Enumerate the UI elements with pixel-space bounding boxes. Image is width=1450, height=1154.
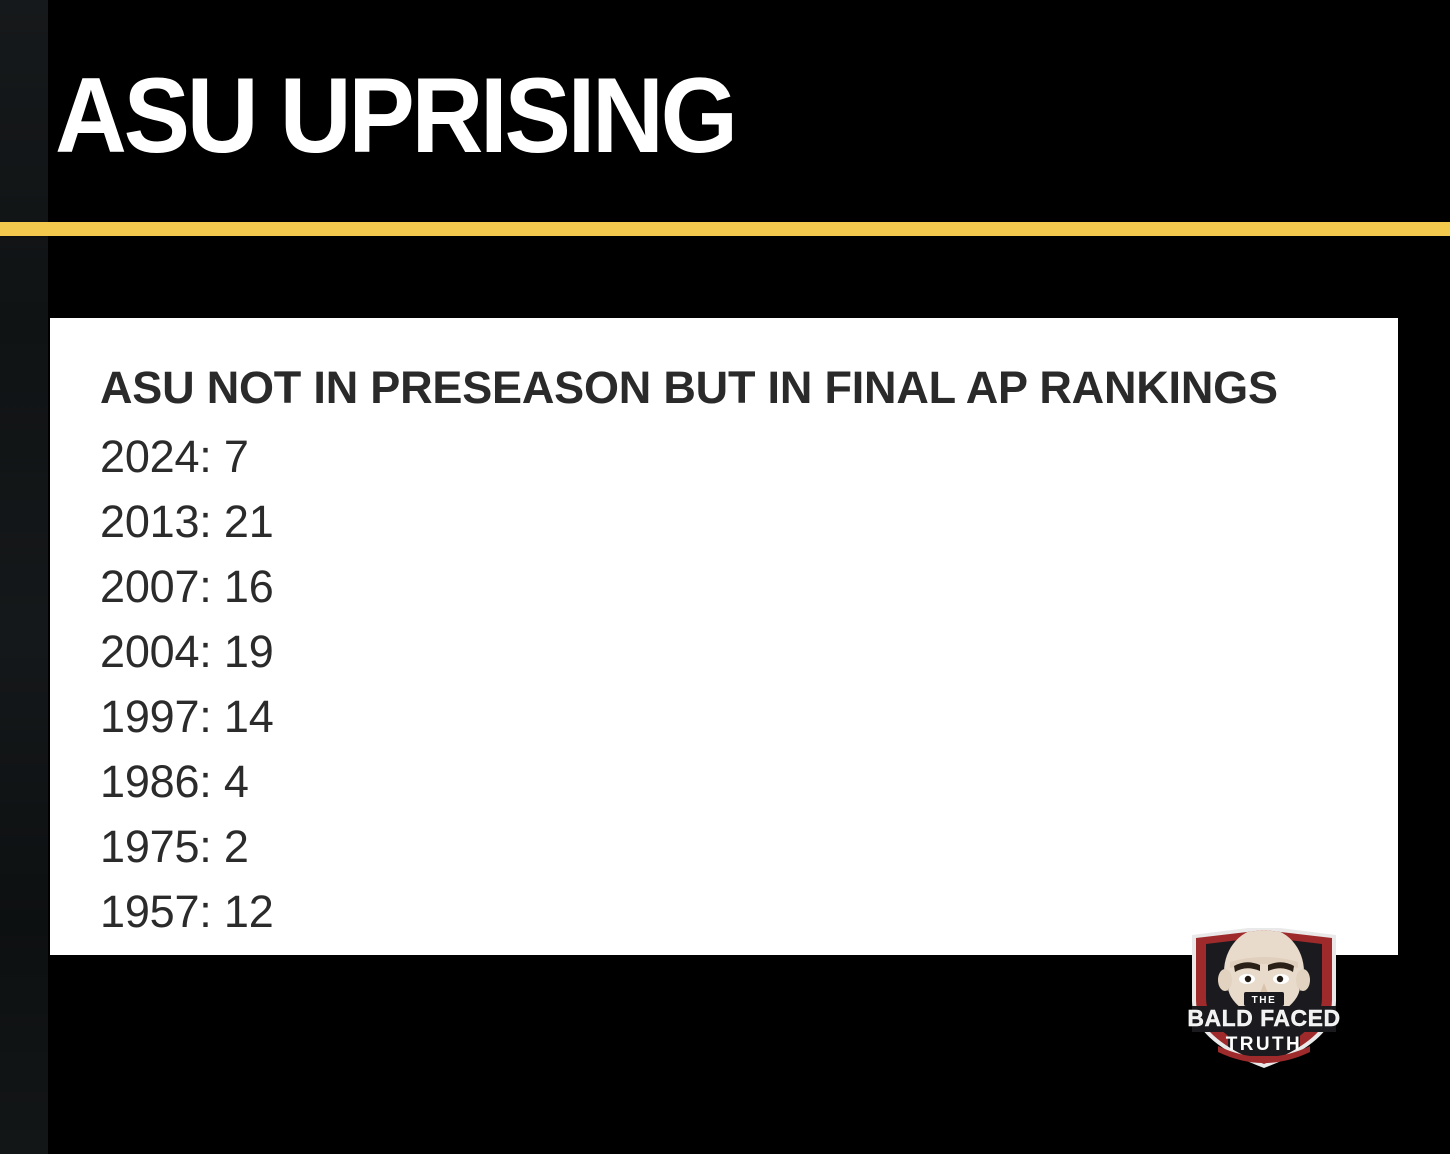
list-item: 1975: 2 [100, 814, 274, 879]
card-heading: ASU NOT IN PRESEASON BUT IN FINAL AP RAN… [100, 364, 1278, 412]
list-item: 1986: 4 [100, 749, 274, 814]
logo-sub-text: TRUTH [1226, 1034, 1302, 1055]
ranking-list: 2024: 7 2013: 21 2007: 16 2004: 19 1997:… [100, 424, 274, 944]
list-item: 1957: 12 [100, 879, 274, 944]
stats-card: ASU NOT IN PRESEASON BUT IN FINAL AP RAN… [50, 318, 1398, 955]
logo-ear-left [1218, 969, 1232, 991]
logo-pupil-right [1277, 976, 1283, 982]
list-item: 2007: 16 [100, 554, 274, 619]
list-item: 2024: 7 [100, 424, 274, 489]
bald-faced-truth-logo: THE BALD FACED TRUTH THE BALD FACED TRUT… [1178, 928, 1350, 1070]
logo-alt-text: THE BALD FACED TRUTH [1178, 1070, 1179, 1071]
list-item: 1997: 14 [100, 684, 274, 749]
title-bar: ASU UPRISING [0, 0, 1450, 222]
accent-rule [0, 222, 1450, 236]
slide-title: ASU UPRISING [55, 60, 735, 170]
logo-ear-right [1296, 969, 1310, 991]
logo-pupil-left [1245, 976, 1251, 982]
slide: ASU UPRISING ASU NOT IN PRESEASON BUT IN… [0, 0, 1450, 1154]
list-item: 2013: 21 [100, 489, 274, 554]
list-item: 2004: 19 [100, 619, 274, 684]
logo-main-text: BALD FACED [1187, 1005, 1340, 1031]
